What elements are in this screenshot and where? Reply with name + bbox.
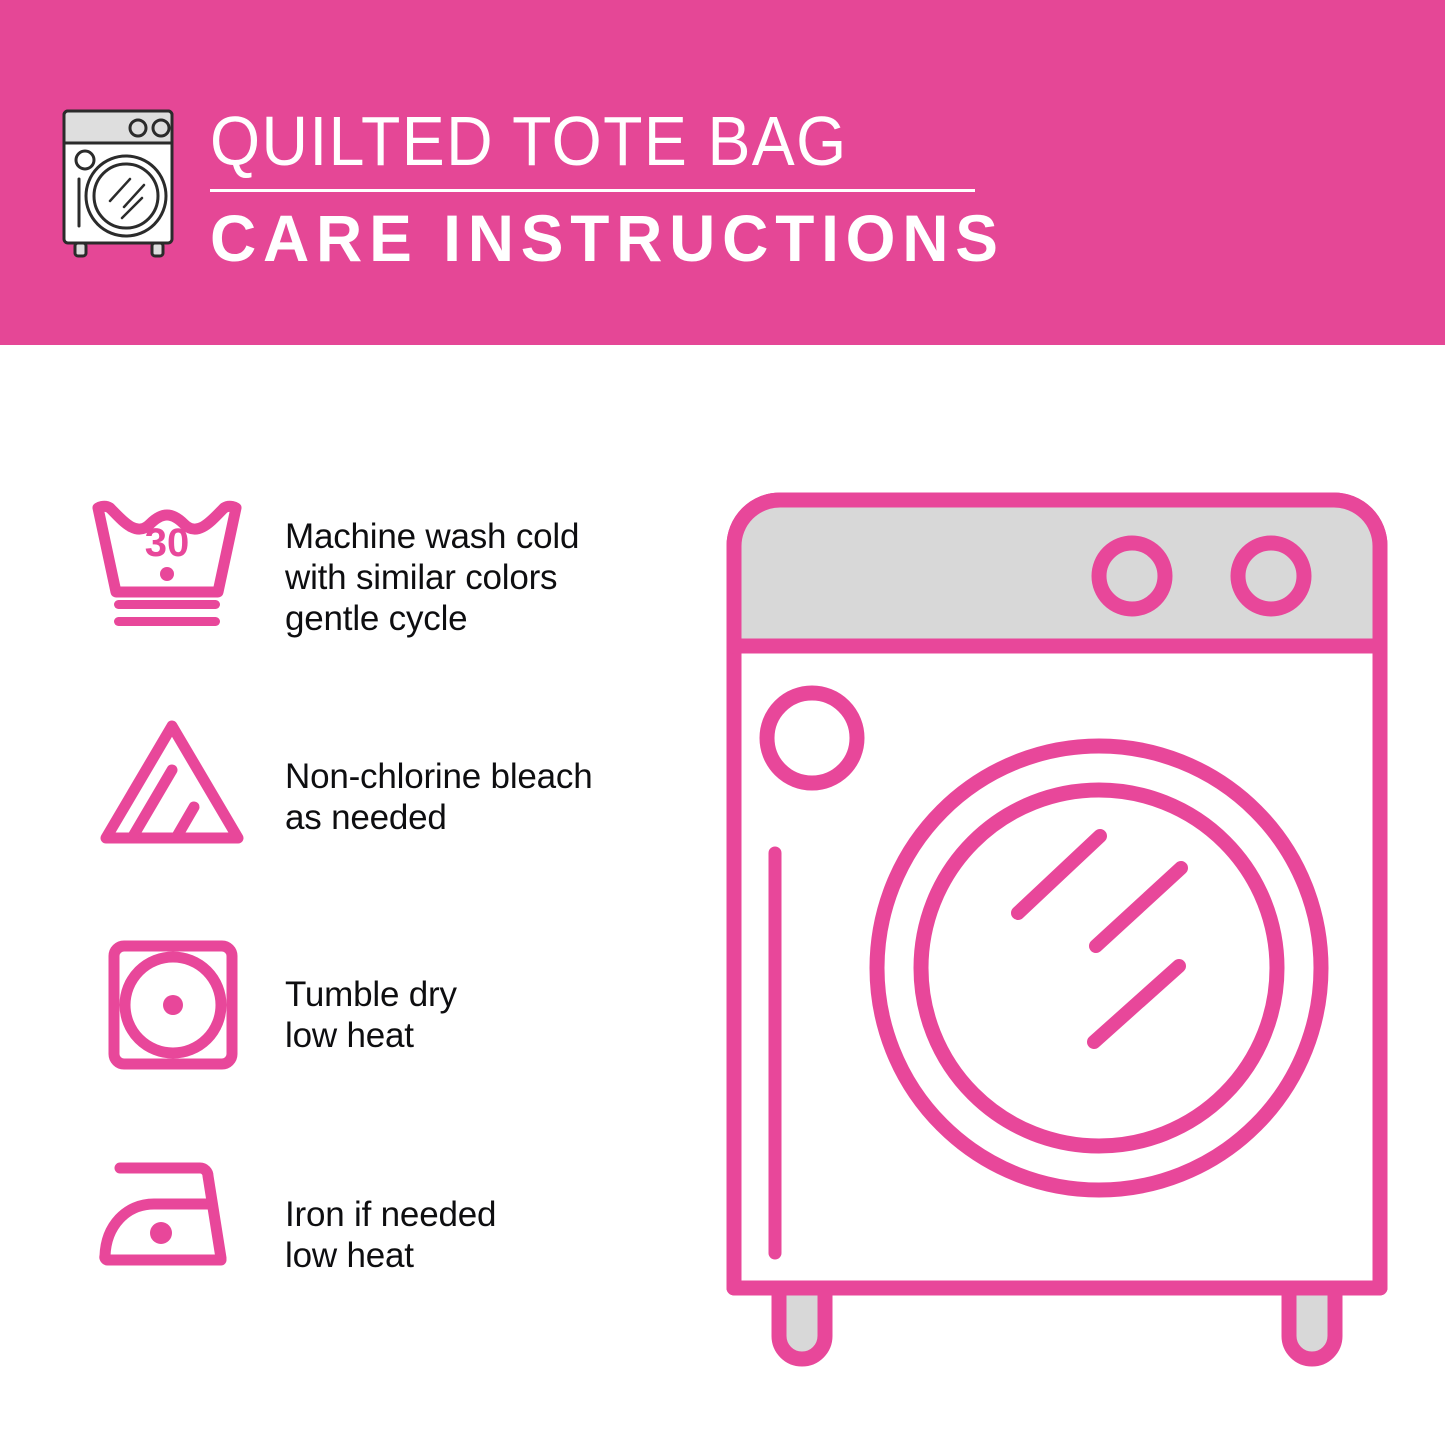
title-divider [210,189,975,192]
care-label-line: Iron if needed [285,1194,700,1235]
section-subtitle: CARE INSTRUCTIONS [210,202,957,274]
care-instructions-list: 30 Machine wash cold with similar colors… [60,490,700,1362]
tumble-dry-icon [60,926,285,1075]
care-label-line: with similar colors [285,557,700,598]
care-instructions-infographic: QUILTED TOTE BAG CARE INSTRUCTIONS 30 [0,0,1445,1445]
care-label-line: Non-chlorine bleach [285,756,700,797]
care-label-iron: Iron if needed low heat [285,1144,700,1276]
washing-machine-icon [58,103,186,258]
care-label-line: Machine wash cold [285,516,700,557]
list-item: Tumble dry low heat [60,926,700,1144]
care-label-line: Tumble dry [285,974,700,1015]
list-item: Iron if needed low heat [60,1144,700,1362]
page-title: QUILTED TOTE BAG [210,104,918,178]
care-label-line: low heat [285,1235,700,1276]
front-load-washing-machine-illustration [722,488,1392,1378]
svg-text:30: 30 [144,521,189,565]
list-item: 30 Machine wash cold with similar colors… [60,490,700,708]
care-label-bleach: Non-chlorine bleach as needed [285,708,700,838]
care-label-line: low heat [285,1015,700,1056]
care-label-wash: Machine wash cold with similar colors ge… [285,490,700,639]
list-item: Non-chlorine bleach as needed [60,708,700,926]
care-label-tumble-dry: Tumble dry low heat [285,926,700,1056]
bleach-triangle-icon [60,708,285,857]
header-band: QUILTED TOTE BAG CARE INSTRUCTIONS [0,0,1445,345]
iron-icon [60,1144,285,1288]
care-label-line: gentle cycle [285,598,700,639]
wash-tub-icon: 30 [60,490,285,634]
care-label-line: as needed [285,797,700,838]
header-text-block: QUILTED TOTE BAG CARE INSTRUCTIONS [210,104,980,274]
